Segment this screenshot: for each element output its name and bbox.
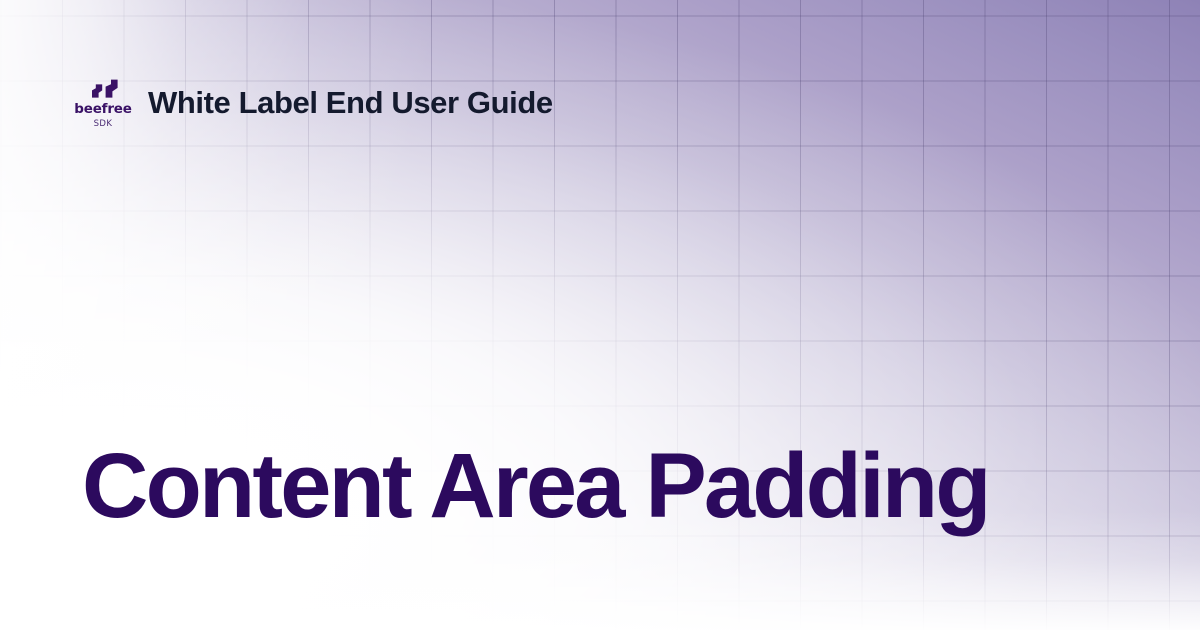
header-row: beefree SDK White Label End User Guide [74,78,553,128]
page-title: Content Area Padding [82,440,1140,534]
beefree-bee-mark-icon [89,78,121,100]
logo-sub-wordmark: SDK [94,120,113,129]
beefree-sdk-logo: beefree SDK [74,78,132,128]
guide-title: White Label End User Guide [148,86,553,120]
logo-wordmark: beefree [74,103,131,117]
banner-canvas: beefree SDK White Label End User Guide C… [0,0,1200,630]
hero-section: Content Area Padding [82,440,1140,534]
